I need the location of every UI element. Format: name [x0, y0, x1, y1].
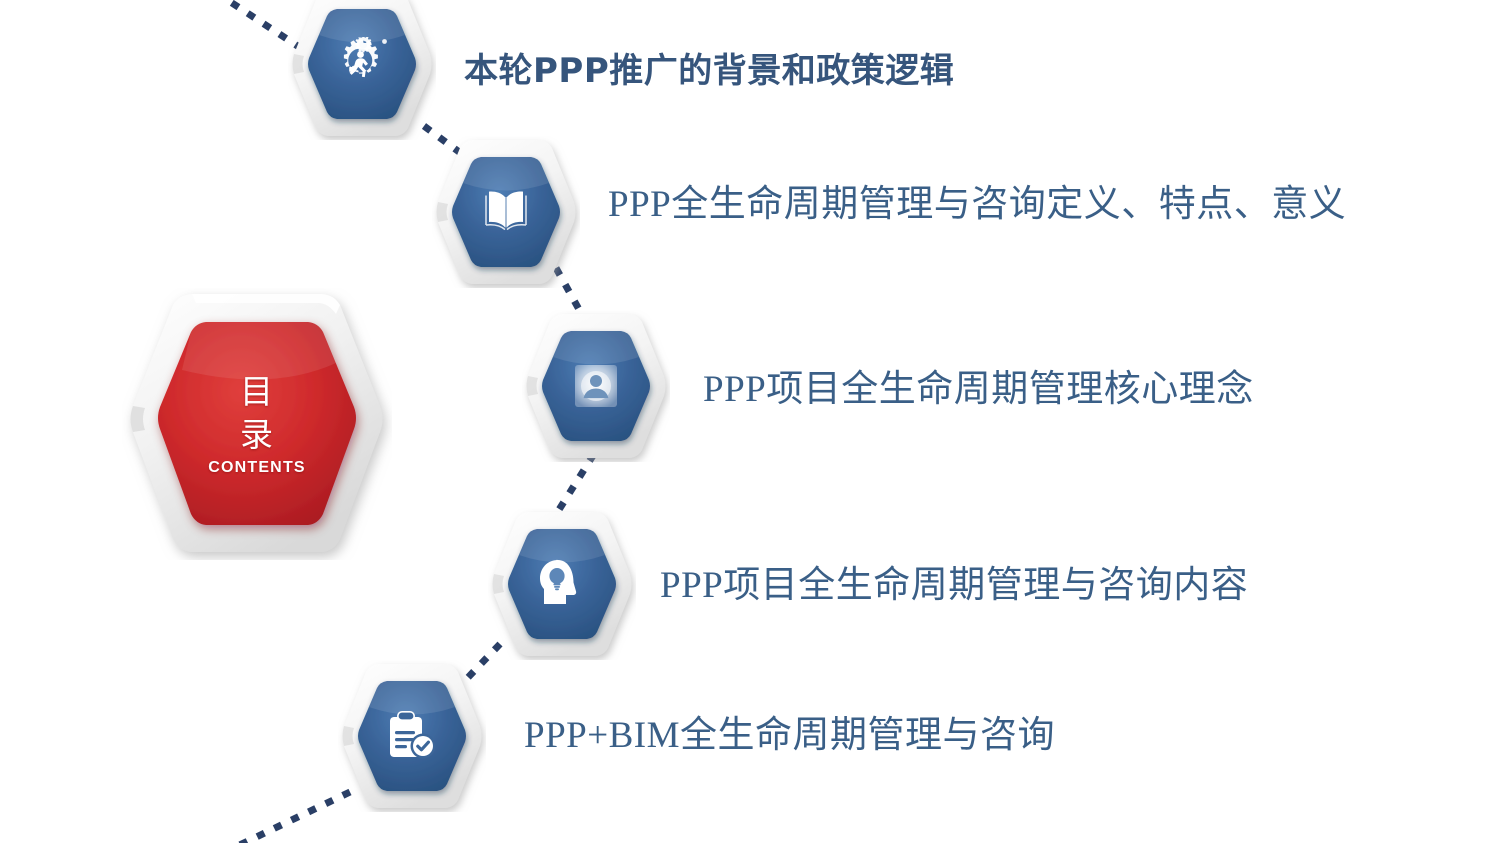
clipboard-check-icon [385, 709, 439, 761]
agenda-node-5[interactable] [338, 660, 486, 812]
agenda-label-5[interactable]: PPP+BIM全生命周期管理与咨询 [524, 716, 1055, 757]
agenda-label-5-text: PPP+BIM全生命周期管理与咨询 [524, 715, 1055, 756]
user-portrait-icon [571, 360, 621, 412]
agenda-node-1[interactable] [288, 0, 436, 140]
head-lightbulb-icon [536, 556, 588, 610]
contents-badge[interactable]: 目 录 CONTENTS [122, 288, 392, 560]
worker-gear-icon [334, 37, 390, 91]
agenda-label-3-text: PPP项目全生命周期管理核心理念 [703, 369, 1254, 410]
agenda-slide: 目 录 CONTENTS [0, 0, 1500, 843]
agenda-label-2-text: PPP全生命周期管理与咨询定义、特点、意义 [608, 184, 1346, 225]
agenda-node-4[interactable] [488, 508, 636, 660]
agenda-node-2[interactable] [432, 136, 580, 288]
agenda-node-3[interactable] [522, 310, 670, 462]
agenda-label-3[interactable]: PPP项目全生命周期管理核心理念 [703, 370, 1254, 411]
agenda-label-2[interactable]: PPP全生命周期管理与咨询定义、特点、意义 [608, 185, 1346, 226]
agenda-label-1-text: 本轮PPP推广的背景和政策逻辑 [464, 51, 954, 91]
agenda-label-1[interactable]: 本轮PPP推广的背景和政策逻辑 [464, 53, 954, 90]
open-book-icon [480, 187, 532, 237]
agenda-label-4[interactable]: PPP项目全生命周期管理与咨询内容 [660, 566, 1248, 607]
agenda-label-4-text: PPP项目全生命周期管理与咨询内容 [660, 565, 1248, 606]
contents-hexagon-shape [122, 288, 392, 560]
